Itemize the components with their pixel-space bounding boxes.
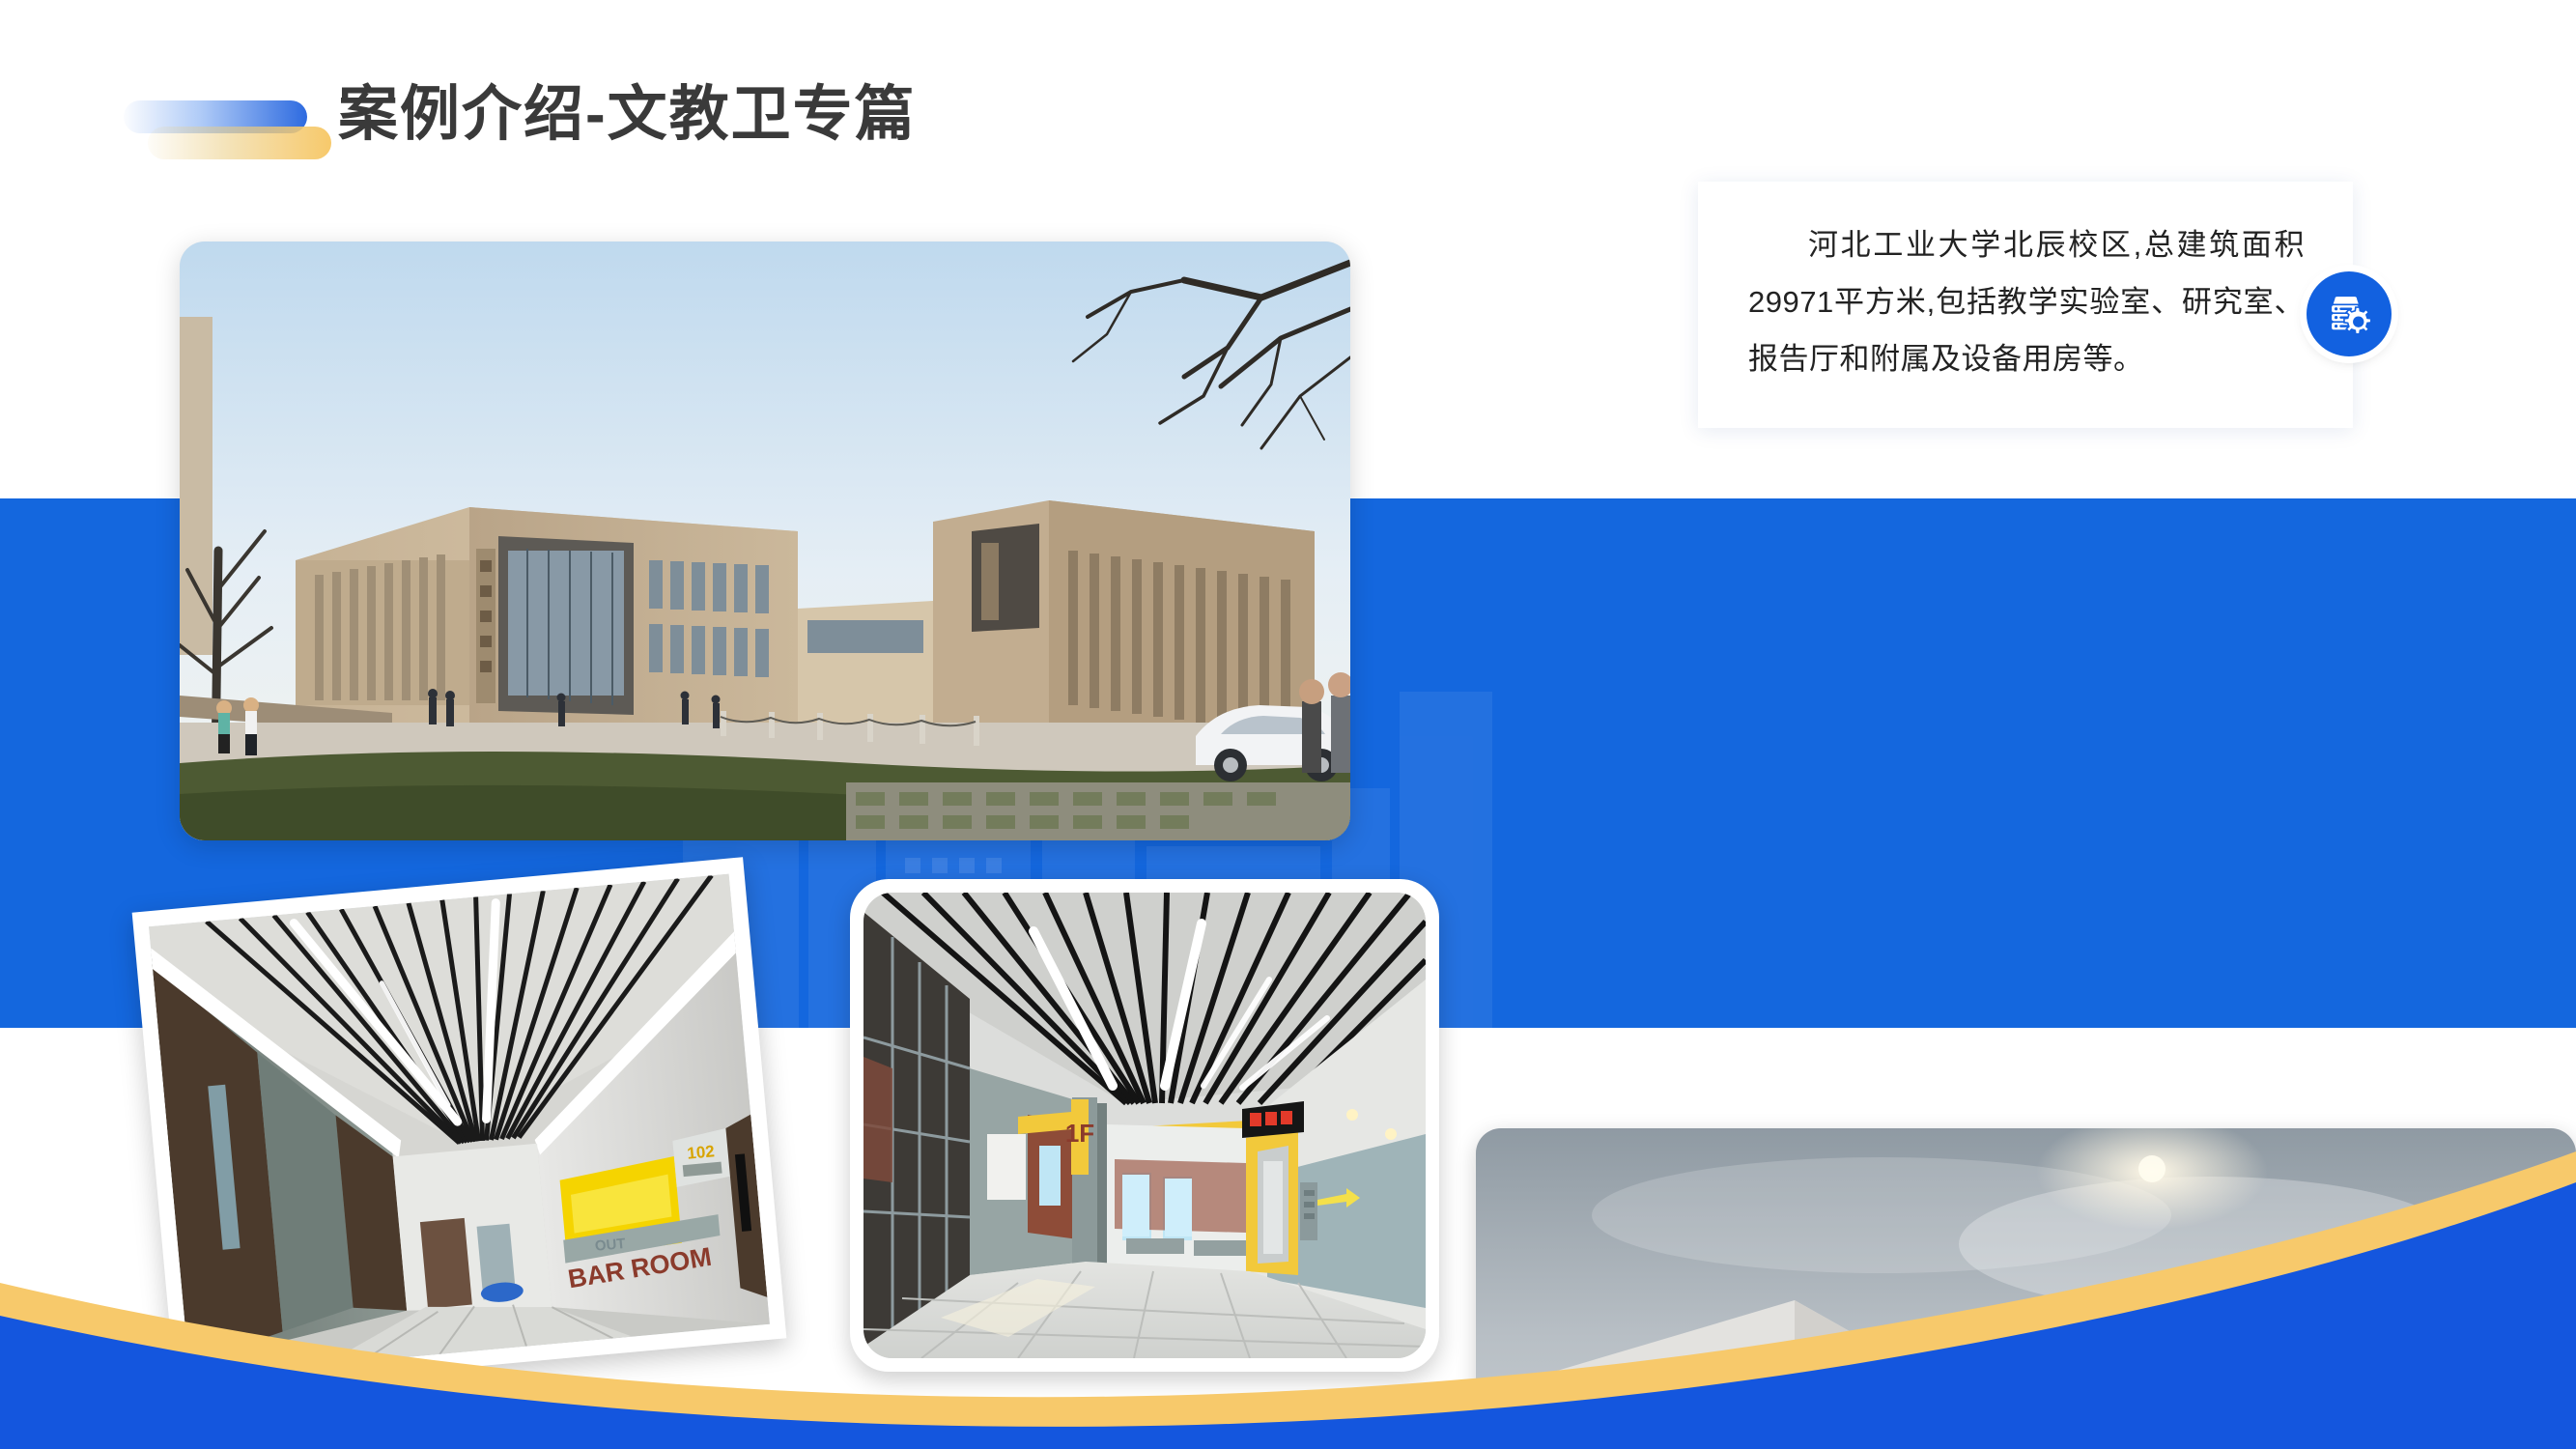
bottom-wave-decoration (0, 1101, 2576, 1449)
slide-header: 案例介绍-文教卫专篇 (0, 0, 2576, 193)
campus-building-rendering-image (180, 241, 1350, 840)
slide-canvas: 案例介绍-文教卫专篇 (0, 0, 2576, 1449)
header-decoration-icon (124, 100, 331, 170)
deco-bar-yellow (148, 127, 331, 159)
info-card-text: 河北工业大学北辰校区,总建筑面积29971平方米,包括教学实验室、研究室、报告厅… (1748, 216, 2305, 387)
info-card: 河北工业大学北辰校区,总建筑面积29971平方米,包括教学实验室、研究室、报告厅… (1698, 182, 2353, 428)
page-title: 案例介绍-文教卫专篇 (338, 85, 917, 145)
server-gear-icon[interactable] (2307, 271, 2392, 356)
